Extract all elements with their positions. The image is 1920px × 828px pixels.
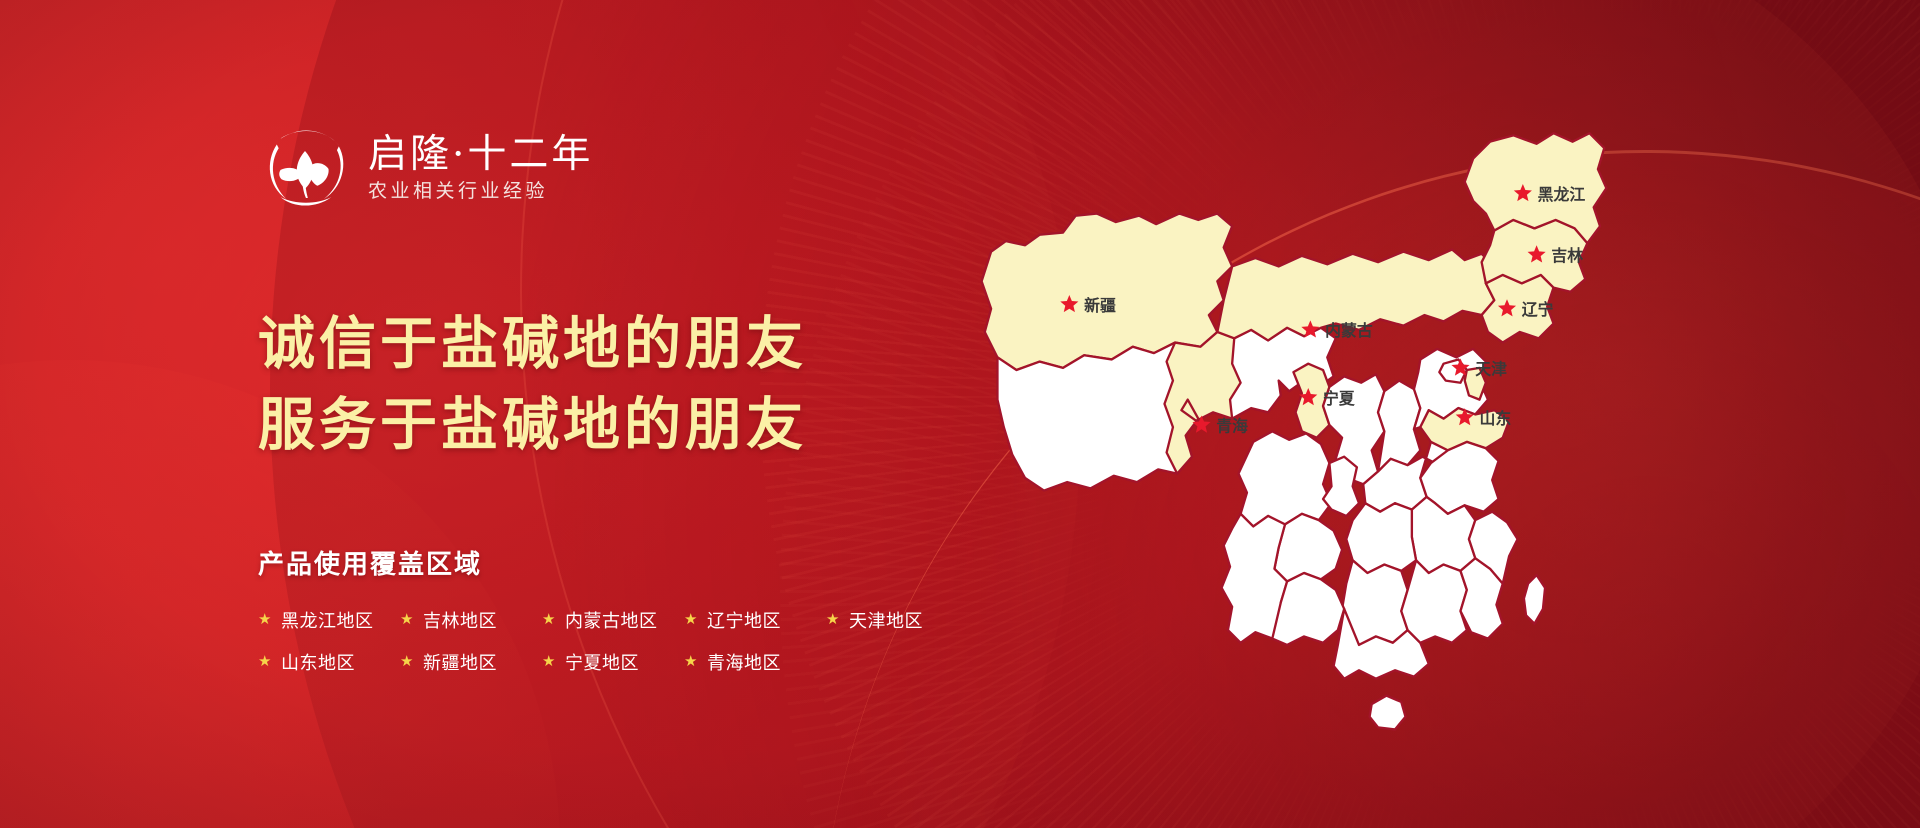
brand-title: 启隆·十二年 [368,135,593,174]
province-sichuan [1238,431,1331,526]
coverage-region-item[interactable]: ★青海地区 [684,649,826,675]
map-province-label: 内蒙古 [1325,321,1373,340]
coverage-region-item[interactable]: ★山东地区 [258,649,400,675]
star-icon: ★ [684,612,698,627]
coverage-region-label: 新疆地区 [423,649,497,675]
coverage-region-item[interactable]: ★新疆地区 [400,649,542,675]
map-province-label: 新疆 [1084,296,1116,315]
map-province-label: 天津 [1475,359,1507,378]
china-map-svg: 黑龙江吉林辽宁内蒙古天津山东宁夏新疆青海 [905,55,1665,795]
coverage-region-label: 黑龙江地区 [281,607,374,633]
star-icon: ★ [258,654,272,669]
lotus-leaf-emblem-icon [258,120,352,214]
map-province-label: 青海 [1216,416,1248,435]
star-icon: ★ [542,654,556,669]
brand-lockup: 启隆·十二年 农业相关行业经验 [258,120,1018,214]
map-provinces [982,133,1607,729]
coverage-region-item[interactable]: ★吉林地区 [400,607,542,633]
map-province-label: 吉林 [1551,246,1583,265]
map-province-label: 宁夏 [1323,389,1355,408]
province-jiangxi [1401,560,1467,642]
china-map: 黑龙江吉林辽宁内蒙古天津山东宁夏新疆青海 [905,55,1665,795]
map-province-label: 辽宁 [1522,300,1554,319]
brand-text: 启隆·十二年 农业相关行业经验 [368,133,593,201]
coverage-region-item[interactable]: ★天津地区 [826,607,968,633]
coverage-region-item[interactable]: ★黑龙江地区 [258,607,400,633]
coverage-region-label: 天津地区 [849,607,923,633]
star-icon: ★ [826,612,840,627]
province-hainan [1370,696,1406,730]
province-taiwan [1524,575,1545,624]
star-icon: ★ [258,612,272,627]
coverage-region-item[interactable]: ★辽宁地区 [684,607,826,633]
map-marker-group[interactable]: 青海 [1192,415,1248,435]
promo-banner: 启隆·十二年 农业相关行业经验 诚信于盐碱地的朋友 服务于盐碱地的朋友 产品使用… [0,0,1920,828]
coverage-region-list: ★黑龙江地区★吉林地区★内蒙古地区★辽宁地区★天津地区★山东地区★新疆地区★宁夏… [258,607,1018,675]
headline-line-2: 服务于盐碱地的朋友 [258,385,1018,466]
coverage-region-label: 青海地区 [707,649,781,675]
coverage-region-item[interactable]: ★内蒙古地区 [542,607,684,633]
coverage-title: 产品使用覆盖区域 [258,544,1018,581]
star-icon: ★ [684,654,698,669]
star-icon: ★ [400,654,414,669]
content-column: 启隆·十二年 农业相关行业经验 诚信于盐碱地的朋友 服务于盐碱地的朋友 产品使用… [258,120,1018,675]
coverage-region-item[interactable]: ★宁夏地区 [542,649,684,675]
coverage-region-label: 山东地区 [281,649,355,675]
coverage-region-label: 内蒙古地区 [565,607,658,633]
headline-line-1: 诚信于盐碱地的朋友 [258,304,1018,385]
map-province-label: 山东 [1480,409,1512,428]
brand-subtitle: 农业相关行业经验 [368,182,593,201]
coverage-region-label: 宁夏地区 [565,649,639,675]
coverage-section: 产品使用覆盖区域 ★黑龙江地区★吉林地区★内蒙古地区★辽宁地区★天津地区★山东地… [258,544,1018,675]
star-icon: ★ [542,612,556,627]
coverage-region-label: 吉林地区 [423,607,497,633]
headline-block: 诚信于盐碱地的朋友 服务于盐碱地的朋友 [258,304,1018,466]
coverage-region-label: 辽宁地区 [707,607,781,633]
map-province-label: 黑龙江 [1538,185,1586,204]
star-icon: ★ [400,612,414,627]
